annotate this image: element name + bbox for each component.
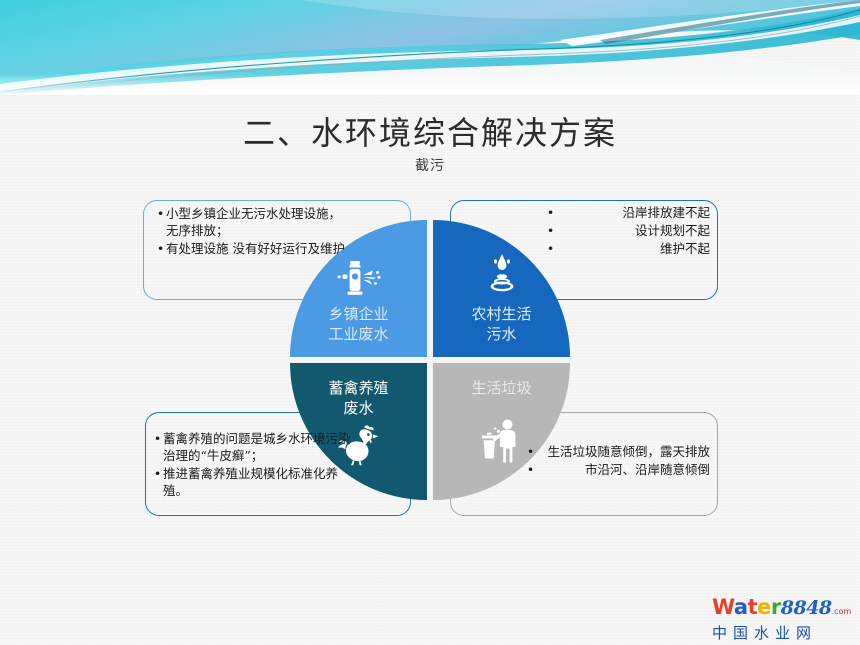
list-item: • 蓄禽养殖的问题是城乡水环境污染治理的“牛皮癣”； [152,430,357,464]
quadrant-label-line1: 乡镇企业 [290,304,427,324]
quadrant-label-rural-domestic-sewage: 农村生活 污水 [433,304,570,344]
bullet-dot: • [525,443,536,460]
list-item: • 小型乡镇企业无污水处理设施，无序排放； [155,205,345,239]
bullet-dot: • [152,430,163,464]
trash-person-icon [478,418,526,464]
quadrant-label-line1: 蓄禽养殖 [290,378,427,398]
bullet-text: 推进蓄禽养殖业规模化标准化养殖。 [163,465,357,499]
bullet-text: 有处理设施 没有好好运行及维护 [166,240,345,257]
list-item: • 生活垃圾随意倾倒，露天排放 [525,443,710,460]
bullet-dot: • [545,204,556,221]
water-drop-icon-wrap [433,252,570,300]
watermark-logo[interactable]: Water8848.com 中国水业网 [712,596,851,642]
header-wave-graphic [0,0,860,95]
logo-com-suffix: .com [832,607,852,616]
list-item: • 维护不起 [545,240,710,257]
bullet-dot: • [155,240,166,257]
quadrant-label-line2: 工业废水 [290,324,427,344]
list-item: • 沿岸排放建不起 [545,204,710,221]
quadrant-label-line2: 废水 [290,398,427,418]
list-item: • 有处理设施 没有好好运行及维护 [155,240,345,257]
fire-hydrant-icon [336,258,382,298]
quadrant-label-township-industrial-wastewater: 乡镇企业 工业废水 [290,304,427,344]
bullet-text: 蓄禽养殖的问题是城乡水环境污染治理的“牛皮癣”； [163,430,357,464]
list-item: • 设计规划不起 [545,222,710,239]
logo-letter-w: W [712,595,734,619]
bullet-text: 维护不起 [556,240,710,257]
bullet-dot: • [525,461,536,478]
bullet-dot: • [545,240,556,257]
slide-canvas: 二、水环境综合解决方案 截污 [0,0,860,645]
callout-text-bottom-right: • 生活垃圾随意倾倒，露天排放 • 市沿河、沿岸随意倾倒 [525,443,710,479]
logo-letter-a: a [734,595,748,619]
quadrant-label-domestic-garbage: 生活垃圾 [433,378,570,398]
logo-number: 8848 [781,597,832,619]
water-drop-icon [477,252,527,296]
bullet-dot: • [545,222,556,239]
quadrant-label-line1: 农村生活 [433,304,570,324]
quadrant-label-line2: 污水 [433,324,570,344]
bullet-text: 生活垃圾随意倾倒，露天排放 [536,443,710,460]
logo-letter-e: e [757,595,771,619]
page-title: 二、水环境综合解决方案 [0,108,860,154]
logo-wordmark: Water8848.com [712,596,851,623]
logo-chinese-name: 中国水业网 [712,624,851,642]
bullet-dot: • [155,205,166,239]
quadrant-label-livestock-breeding-wastewater: 蓄禽养殖 废水 [290,378,427,418]
callout-text-top-right: • 沿岸排放建不起 • 设计规划不起 • 维护不起 [545,204,710,258]
callout-text-top-left: • 小型乡镇企业无污水处理设施，无序排放； • 有处理设施 没有好好运行及维护 [155,205,345,258]
header-wave-banner [0,0,860,95]
bullet-text: 沿岸排放建不起 [556,204,710,221]
bullet-text: 市沿河、沿岸随意倾倒 [536,461,710,478]
fire-hydrant-icon-wrap [290,258,427,302]
logo-letter-r: r [771,595,781,619]
quadrant-label-line1: 生活垃圾 [433,378,570,398]
list-item: • 推进蓄禽养殖业规模化标准化养殖。 [152,465,357,499]
page-subtitle: 截污 [0,155,860,175]
bullet-text: 设计规划不起 [556,222,710,239]
callout-text-bottom-left: • 蓄禽养殖的问题是城乡水环境污染治理的“牛皮癣”； • 推进蓄禽养殖业规模化标… [152,430,357,500]
list-item: • 市沿河、沿岸随意倾倒 [525,461,710,478]
bullet-text: 小型乡镇企业无污水处理设施，无序排放； [166,205,345,239]
bullet-dot: • [152,465,163,499]
logo-letter-t: t [748,595,758,619]
